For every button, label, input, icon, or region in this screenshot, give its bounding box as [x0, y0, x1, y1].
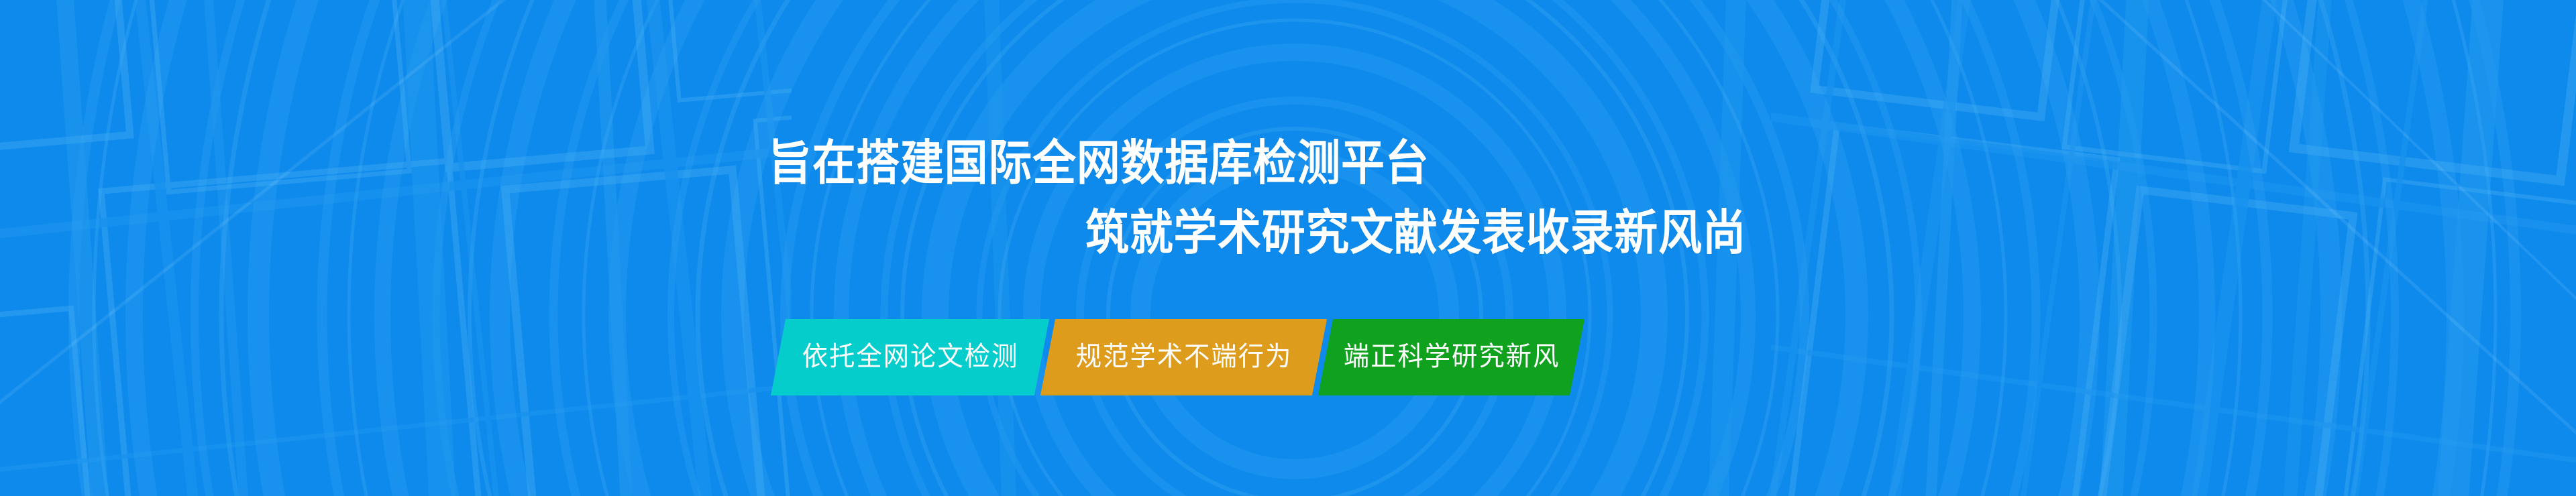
feature-tag-1-label: 依托全网论文检测: [802, 343, 1018, 371]
feature-tag-2[interactable]: 规范学术不端行为: [1040, 319, 1327, 395]
feature-tag-2-label: 规范学术不端行为: [1075, 343, 1292, 371]
promo-banner: 旨在搭建国际全网数据库检测平台 筑就学术研究文献发表收录新风尚 依托全网论文检测…: [0, 0, 2576, 496]
feature-tag-list: 依托全网论文检测 规范学术不端行为 端正科学研究新风: [778, 319, 1577, 395]
headline-line-1: 旨在搭建国际全网数据库检测平台: [768, 131, 1430, 196]
headline-line-2: 筑就学术研究文献发表收录新风尚: [1085, 201, 1747, 265]
headline-block: 旨在搭建国际全网数据库检测平台 筑就学术研究文献发表收录新风尚: [0, 113, 2576, 294]
feature-tag-3-label: 端正科学研究新风: [1343, 343, 1560, 371]
feature-tag-1[interactable]: 依托全网论文检测: [771, 319, 1049, 395]
feature-tag-3[interactable]: 端正科学研究新风: [1318, 319, 1585, 395]
